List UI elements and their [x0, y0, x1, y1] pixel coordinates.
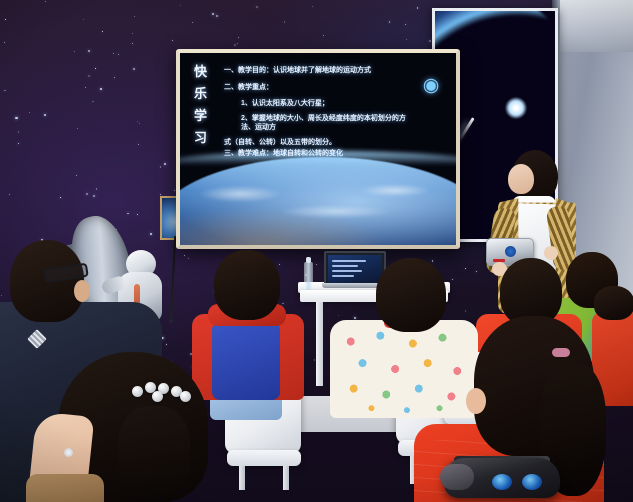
- vr-lens-left-icon: [492, 474, 512, 490]
- finger-ring: [64, 448, 73, 457]
- classroom-photo-scene: 快 乐 学 习 一、教学目的：认识地球并了解地球的运动方式 二、教学重点： 1、…: [0, 0, 633, 502]
- slide-line-keypoints-header: 二、教学重点：: [224, 84, 410, 93]
- man-ear: [74, 280, 90, 302]
- vr-lens-right-icon: [522, 474, 542, 490]
- boy-head: [214, 250, 280, 320]
- slide-line-point2: 2、掌握地球的大小、周长及经度纬度的本初划分的方法、运动方: [241, 115, 410, 133]
- projector-lens-icon: [505, 246, 516, 257]
- chair-left-leg: [283, 466, 289, 490]
- lesson-slide: 快 乐 学 习 一、教学目的：认识地球并了解地球的运动方式 二、教学重点： 1、…: [180, 53, 456, 245]
- pearl-hair-clip: [132, 382, 192, 398]
- chair-left-seat: [227, 450, 301, 466]
- ceiling-light-glow: [560, 0, 633, 52]
- chair-left-leg: [239, 466, 245, 490]
- tv-screen: 快 乐 学 习 一、教学目的：认识地球并了解地球的运动方式 二、教学重点： 1、…: [180, 53, 456, 245]
- motto-char-4: 习: [194, 131, 220, 144]
- slide-text-body: 一、教学目的：认识地球并了解地球的运动方式 二、教学重点： 1、认识太阳系及八大…: [224, 67, 410, 158]
- child-far-right-head: [594, 286, 633, 320]
- sun-flare-icon: [505, 97, 527, 119]
- spiral-logo-icon: ◉: [420, 75, 442, 97]
- slide-line-point1: 1、认识太阳系及八大行星；: [241, 100, 410, 109]
- slide-line-objective: 一、教学目的：认识地球并了解地球的运动方式: [224, 67, 410, 76]
- teacher-face: [508, 164, 534, 194]
- slide-vertical-motto: 快 乐 学 习: [194, 65, 220, 144]
- woman-hair-tail: [118, 406, 190, 502]
- hair-tie: [552, 348, 570, 357]
- motto-char-3: 学: [194, 109, 220, 122]
- girl-ear: [466, 388, 486, 414]
- slide-line-point2b: 式（自转、公转）以及五带的划分。: [224, 139, 410, 148]
- woman-sleeve: [26, 474, 104, 502]
- desk-leg-left: [316, 302, 323, 386]
- wall-display-tv[interactable]: 快 乐 学 习 一、教学目的：认识地球并了解地球的运动方式 二、教学重点： 1、…: [176, 49, 460, 249]
- woman-pearl-clip: [36, 352, 226, 502]
- motto-char-2: 乐: [194, 87, 220, 100]
- slide-line-difficulty: 三、教学难点：地球自转和公转的变化: [224, 150, 410, 159]
- vr-headset[interactable]: [444, 452, 560, 502]
- vr-side-strap: [440, 464, 474, 490]
- motto-char-1: 快: [194, 65, 220, 78]
